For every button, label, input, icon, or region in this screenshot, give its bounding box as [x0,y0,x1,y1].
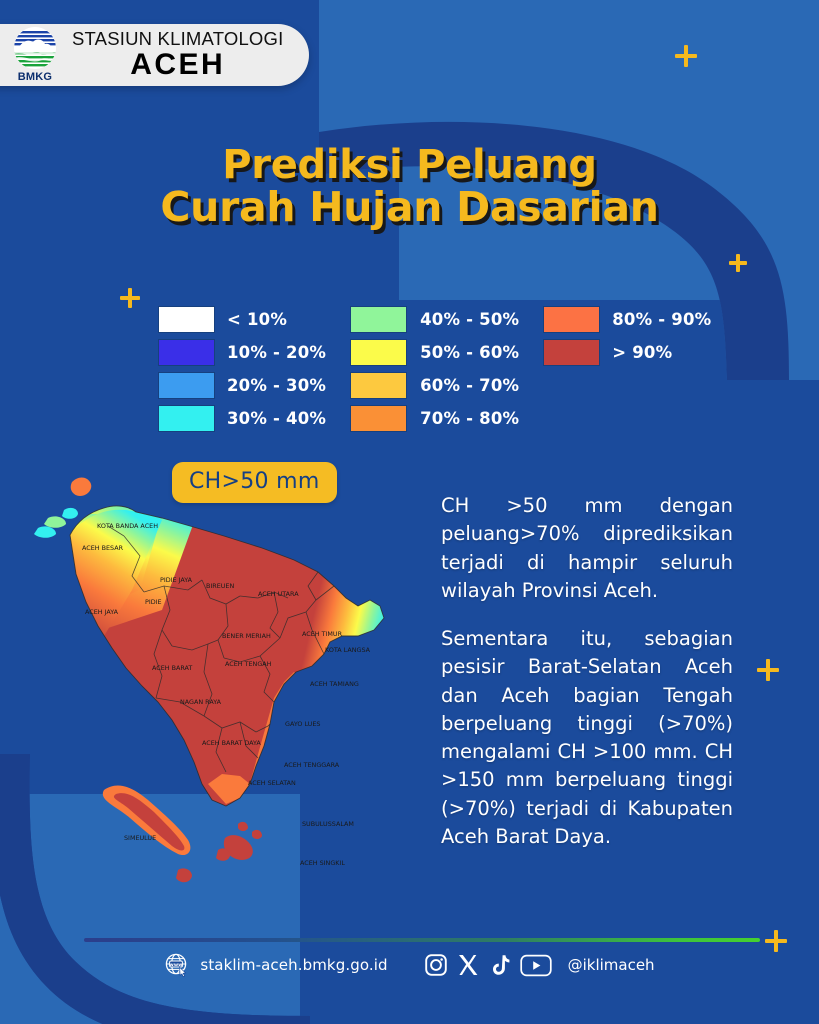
map-label: BENER MERIAH [222,632,271,640]
map-label: KOTA LANGSA [325,646,371,654]
header-line2: ACEH [72,50,283,80]
title-line-1: Prediksi Peluang [0,144,819,186]
tiktok-icon[interactable] [488,953,512,977]
map-label: PIDIE [145,598,162,606]
plus-decoration-icon [765,930,787,952]
legend-swatch [543,339,600,366]
legend-item: 60% - 70% [350,369,519,402]
legend-column-3: 80% - 90% > 90% [543,303,711,435]
map-label: ACEH SELATAN [248,779,296,787]
legend-item: 50% - 60% [350,336,519,369]
map-label: SIMEULUE [124,834,156,842]
map-label: ACEH UTARA [258,590,299,598]
website-link[interactable]: www staklim-aceh.bmkg.go.id [164,952,387,978]
description-paragraph-1: CH >50 mm dengan peluang>70% diprediksik… [441,492,733,605]
map-label: ACEH TENGGARA [284,761,340,769]
legend-label: > 90% [612,343,672,362]
description-paragraph-2: Sementara itu, sebagian pesisir Barat-Se… [441,625,733,851]
legend-item: 30% - 40% [158,402,326,435]
legend-label: < 10% [227,310,287,329]
rainfall-threshold-badge: CH>50 mm [172,462,337,503]
youtube-icon[interactable] [520,954,552,977]
legend-swatch [158,339,215,366]
social-handle: @iklimaceh [568,956,655,974]
instagram-icon[interactable] [424,953,448,977]
header-branding-pill: BMKG STASIUN KLIMATOLOGI ACEH [0,24,309,86]
legend-label: 80% - 90% [612,310,711,329]
bmkg-logo-label: BMKG [8,71,62,83]
map-label: NAGAN RAYA [180,698,222,706]
website-url: staklim-aceh.bmkg.go.id [200,956,387,974]
map-label: ACEH TENGAH [225,660,272,668]
probability-legend: < 10% 10% - 20% 20% - 30% 30% - 40% 40% … [158,303,711,435]
globe-www-icon: www [164,952,190,978]
social-links: @iklimaceh [424,953,655,977]
plus-decoration-icon [675,45,697,67]
legend-swatch [158,405,215,432]
legend-label: 30% - 40% [227,409,326,428]
header-line1: STASIUN KLIMATOLOGI [72,30,283,49]
map-label: ACEH JAYA [85,608,119,616]
page-title: Prediksi Peluang Curah Hujan Dasarian [0,144,819,230]
footer: www staklim-aceh.bmkg.go.id @iklimaceh [0,952,819,978]
map-label: ACEH BARAT [152,664,192,672]
aceh-rainfall-map: KOTA BANDA ACEH ACEH BESAR ACEH JAYA PID… [12,440,432,910]
map-label: ACEH BARAT DAYA [202,739,261,747]
plus-decoration-icon [729,254,747,272]
legend-label: 20% - 30% [227,376,326,395]
bmkg-logo-icon: BMKG [8,27,62,83]
map-label: SUBULUSSALAM [302,820,354,828]
x-twitter-icon[interactable] [456,953,480,977]
legend-item: 70% - 80% [350,402,519,435]
legend-swatch [350,372,407,399]
legend-label: 40% - 50% [420,310,519,329]
legend-swatch [158,306,215,333]
svg-text:www: www [170,963,184,968]
legend-column-2: 40% - 50% 50% - 60% 60% - 70% 70% - 80% [350,303,519,435]
legend-swatch [543,306,600,333]
map-label: BIREUEN [206,582,234,590]
map-label: ACEH BESAR [82,544,124,552]
legend-swatch [350,306,407,333]
legend-item: < 10% [158,303,326,336]
description-text: CH >50 mm dengan peluang>70% diprediksik… [441,492,733,851]
legend-item: 20% - 30% [158,369,326,402]
legend-label: 70% - 80% [420,409,519,428]
legend-swatch [350,339,407,366]
legend-label: 60% - 70% [420,376,519,395]
map-label: ACEH TIMUR [302,630,343,638]
map-label: ACEH TAMIANG [310,680,359,688]
plus-decoration-icon [757,659,779,681]
legend-item: > 90% [543,336,711,369]
legend-item: 80% - 90% [543,303,711,336]
legend-item: 40% - 50% [350,303,519,336]
legend-swatch [158,372,215,399]
title-line-2: Curah Hujan Dasarian [0,186,819,229]
legend-label: 50% - 60% [420,343,519,362]
map-label: KOTA BANDA ACEH [97,522,158,530]
legend-item: 10% - 20% [158,336,326,369]
legend-column-1: < 10% 10% - 20% 20% - 30% 30% - 40% [158,303,326,435]
legend-swatch [350,405,407,432]
map-label: PIDIE JAYA [160,576,193,584]
legend-label: 10% - 20% [227,343,326,362]
map-label: GAYO LUES [285,720,320,728]
footer-divider [84,938,760,942]
infographic-poster: BMKG STASIUN KLIMATOLOGI ACEH Prediksi P… [0,0,819,1024]
plus-decoration-icon [120,288,140,308]
map-label: ACEH SINGKIL [300,859,345,867]
